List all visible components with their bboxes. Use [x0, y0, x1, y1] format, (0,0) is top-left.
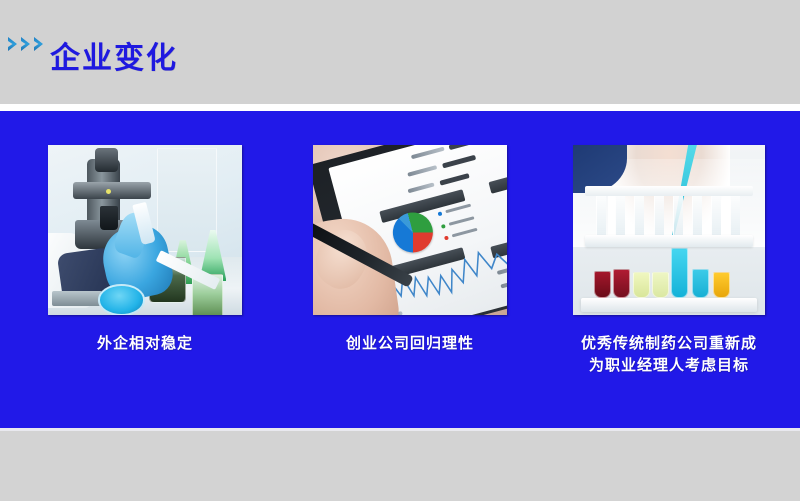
presentation-slide: 企业变化 — [0, 0, 800, 501]
card-caption-1: 外企相对稳定 — [48, 333, 242, 355]
content-card-3[interactable]: 优秀传统制药公司重新成 为职业经理人考虑目标 — [573, 145, 765, 377]
card-caption-3-line-1: 优秀传统制药公司重新成 — [573, 333, 765, 355]
header-divider — [0, 104, 800, 111]
content-card-1[interactable]: 外企相对稳定 — [48, 145, 242, 355]
triple-chevron-right-icon — [7, 36, 45, 52]
page-title: 企业变化 — [50, 33, 178, 77]
content-card-2[interactable]: 创业公司回归理性 — [313, 145, 507, 355]
panel-bottom-divider — [0, 428, 800, 431]
slide-header: 企业变化 — [0, 0, 800, 104]
tablet-analytics-photo — [313, 145, 507, 315]
card-caption-3: 优秀传统制药公司重新成 为职业经理人考虑目标 — [573, 333, 765, 377]
content-panel: 外企相对稳定 — [0, 111, 800, 428]
card-caption-2: 创业公司回归理性 — [313, 333, 507, 355]
lab-microscope-photo — [48, 145, 242, 315]
test-tubes-photo — [573, 145, 765, 315]
card-caption-3-line-2: 为职业经理人考虑目标 — [573, 355, 765, 377]
